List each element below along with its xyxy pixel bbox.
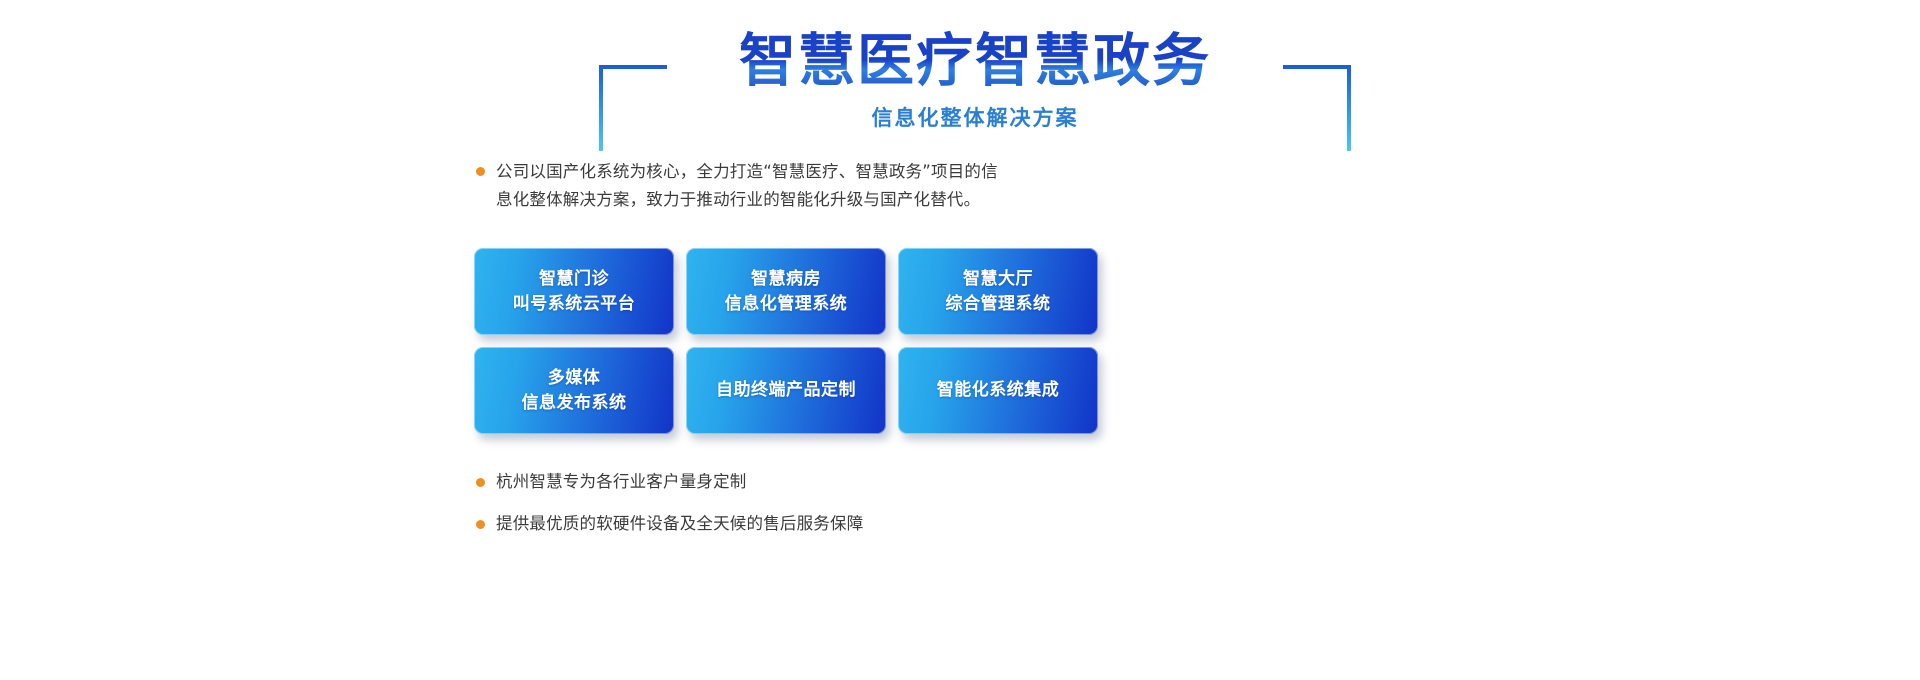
card-multimedia[interactable]: 多媒体信息发布系统 <box>474 347 674 434</box>
intro-line-1: 公司以国产化系统为核心，全力打造“智慧医疗、智慧政务”项目的信 <box>496 158 1114 186</box>
card-self-service-terminal[interactable]: 自助终端产品定制 <box>686 347 886 434</box>
card-smart-clinic[interactable]: 智慧门诊叫号系统云平台 <box>474 248 674 335</box>
bullet-dot-icon <box>476 167 485 176</box>
main-title-part1: 智慧医疗 <box>739 25 975 97</box>
subtitle-row: 信息化整体解决方案 <box>585 103 1365 133</box>
main-title-part2: 智慧政务 <box>975 25 1211 97</box>
intro-block: 公司以国产化系统为核心，全力打造“智慧医疗、智慧政务”项目的信 息化整体解决方案… <box>474 158 1114 214</box>
card-line-1: 智慧门诊 <box>539 269 609 289</box>
card-smart-ward[interactable]: 智慧病房信息化管理系统 <box>686 248 886 335</box>
card-label: 自助终端产品定制 <box>716 378 856 403</box>
card-line-2: 叫号系统云平台 <box>513 294 636 314</box>
header-block: 智慧医疗智慧政务 信息化整体解决方案 <box>585 25 1365 145</box>
subtitle: 信息化整体解决方案 <box>858 103 1093 133</box>
card-line-2: 信息化管理系统 <box>725 294 848 314</box>
card-label: 多媒体信息发布系统 <box>522 366 627 416</box>
card-label: 智慧门诊叫号系统云平台 <box>513 267 636 317</box>
intro-line-2: 息化整体解决方案，致力于推动行业的智能化升级与国产化替代。 <box>496 186 1114 214</box>
bullet-dot-icon <box>476 520 485 529</box>
card-line-1: 智能化系统集成 <box>937 380 1060 400</box>
bottom-point-text: 杭州智慧专为各行业客户量身定制 <box>496 470 1114 494</box>
main-title: 智慧医疗智慧政务 <box>585 25 1365 97</box>
poster-stage: 智慧医疗智慧政务 信息化整体解决方案 公司以国产化系统为核心，全力打造“智慧医疗… <box>0 0 1920 680</box>
card-line-1: 多媒体 <box>548 368 601 388</box>
bottom-point-1: 杭州智慧专为各行业客户量身定制 <box>474 470 1114 494</box>
bottom-points-block: 杭州智慧专为各行业客户量身定制 提供最优质的软硬件设备及全天候的售后服务保障 <box>474 470 1114 554</box>
card-line-1: 智慧病房 <box>751 269 821 289</box>
card-system-integration[interactable]: 智能化系统集成 <box>898 347 1098 434</box>
card-line-2: 信息发布系统 <box>522 393 627 413</box>
card-label: 智慧大厅综合管理系统 <box>946 267 1051 317</box>
card-line-1: 自助终端产品定制 <box>716 380 856 400</box>
solution-card-grid: 智慧门诊叫号系统云平台 智慧病房信息化管理系统 智慧大厅综合管理系统 多媒体信息… <box>474 248 1099 434</box>
bullet-dot-icon <box>476 478 485 487</box>
bottom-point-2: 提供最优质的软硬件设备及全天候的售后服务保障 <box>474 512 1114 536</box>
intro-bullet-item: 公司以国产化系统为核心，全力打造“智慧医疗、智慧政务”项目的信 息化整体解决方案… <box>474 158 1114 214</box>
card-label: 智能化系统集成 <box>937 378 1060 403</box>
card-label: 智慧病房信息化管理系统 <box>725 267 848 317</box>
card-line-1: 智慧大厅 <box>963 269 1033 289</box>
card-smart-hall[interactable]: 智慧大厅综合管理系统 <box>898 248 1098 335</box>
card-line-2: 综合管理系统 <box>946 294 1051 314</box>
bottom-point-text: 提供最优质的软硬件设备及全天候的售后服务保障 <box>496 512 1114 536</box>
